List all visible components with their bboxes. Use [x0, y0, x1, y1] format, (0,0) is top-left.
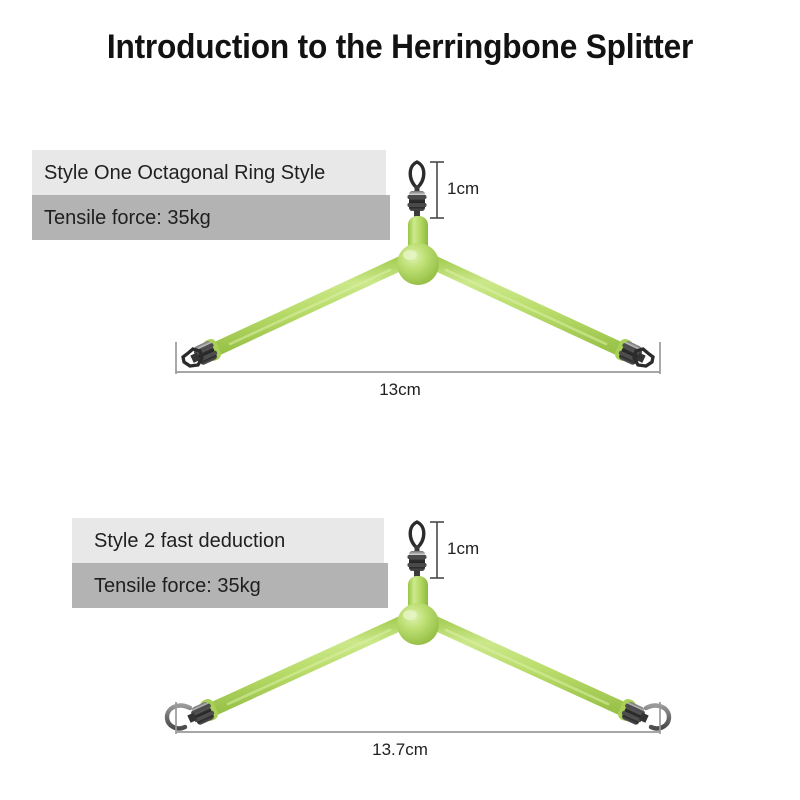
product-section-style-one: Style One Octagonal Ring Style Tensile f… — [0, 140, 800, 430]
product-section-style-two: Style 2 fast deduction Tensile force: 35… — [0, 500, 800, 790]
splitter-arm-right — [424, 254, 635, 363]
height-dimension-label: 1cm — [447, 539, 479, 559]
dimension-line-width — [176, 702, 660, 734]
splitter-figure-style-one: 1cm 13cm — [0, 140, 800, 430]
top-swivel-icon — [408, 162, 427, 218]
splitter-arm-left — [201, 254, 412, 363]
splitter-hub — [397, 603, 439, 645]
end-fitting-left-snap-clip — [167, 700, 216, 728]
splitter-figure-style-two: 1cm 13.7cm — [0, 500, 800, 790]
height-dimension-label: 1cm — [447, 179, 479, 199]
end-fitting-right-snap-clip — [620, 700, 669, 728]
dimension-line-height — [430, 162, 444, 218]
top-swivel-icon — [408, 522, 427, 578]
dimension-line-height — [430, 522, 444, 578]
splitter-arm-right — [424, 614, 638, 723]
width-dimension-label: 13cm — [0, 380, 800, 400]
dimension-line-width — [176, 342, 660, 374]
splitter-hub — [397, 243, 439, 285]
width-dimension-label: 13.7cm — [0, 740, 800, 760]
page-title: Introduction to the Herringbone Splitter — [28, 28, 772, 67]
splitter-arm-left — [198, 614, 412, 723]
